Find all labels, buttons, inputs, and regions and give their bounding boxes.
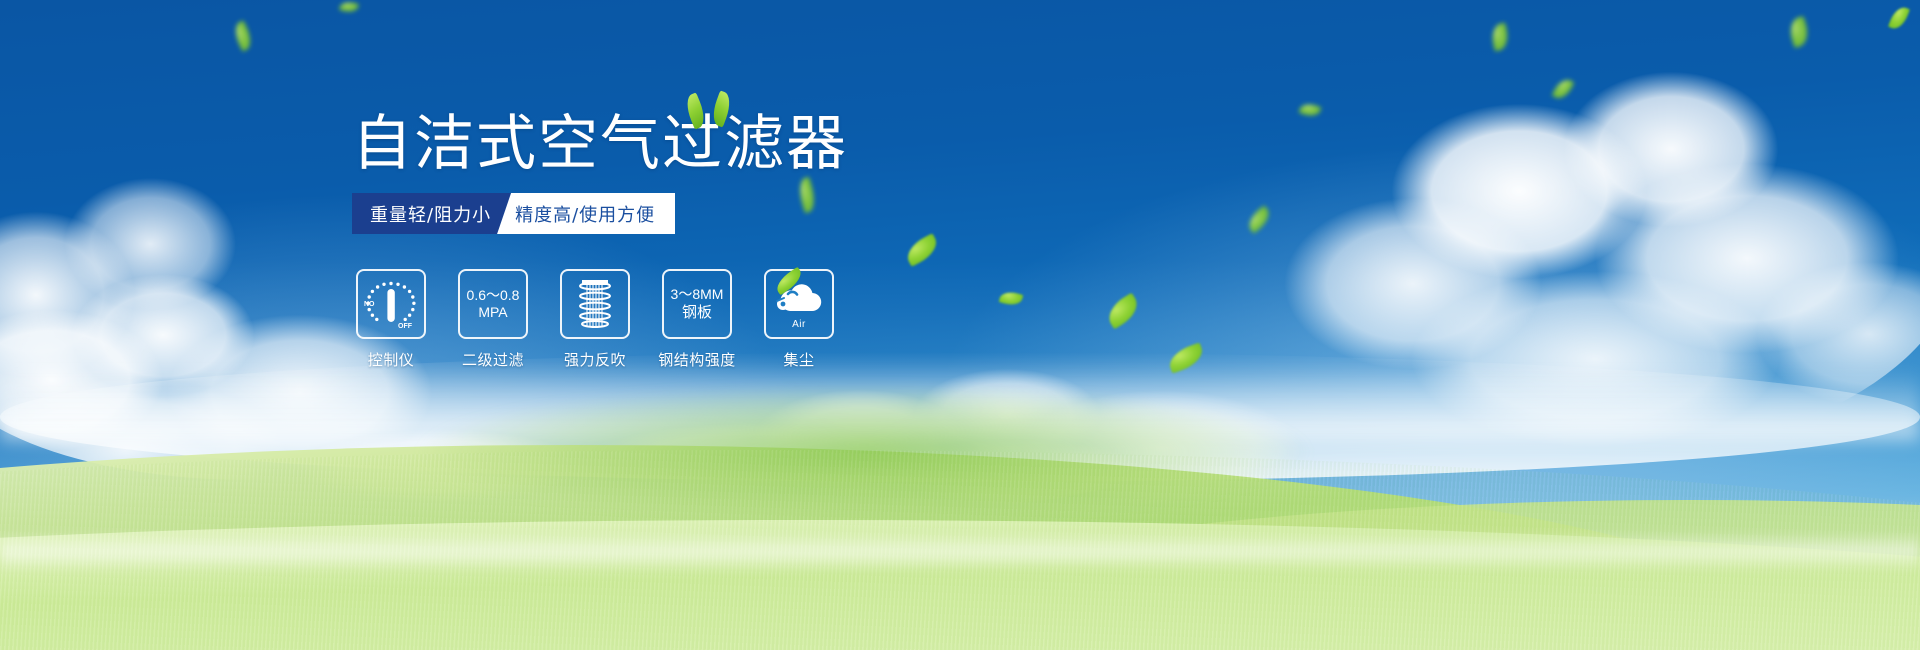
feature-icon-box: Air xyxy=(764,269,834,339)
feature-label: 钢结构强度 xyxy=(658,349,736,370)
badge-lightweight-low-resistance: 重量轻/阻力小 xyxy=(352,193,511,234)
filter-stack-icon xyxy=(571,278,619,330)
feature-label: 控制仪 xyxy=(368,349,415,370)
feature-item: Air 集尘 xyxy=(760,269,838,370)
feature-label: 集尘 xyxy=(783,349,814,370)
feature-label: 强力反吹 xyxy=(564,349,626,370)
product-hero-banner: 自洁式空气过滤器 重量轻/阻力小 精度高/使用方便 xyxy=(0,0,1920,650)
svg-text:OFF: OFF xyxy=(398,323,413,330)
pressure-range-text: 0.6～0.8 xyxy=(467,287,520,304)
feature-item: 3～8MM 钢板 钢结构强度 xyxy=(658,269,736,370)
feature-item: 强力反吹 xyxy=(556,269,634,370)
feature-icon-box: 0.6～0.8 MPA xyxy=(458,269,528,339)
steel-thickness-text: 3～8MM xyxy=(671,286,724,303)
tagline-badges: 重量轻/阻力小 精度高/使用方便 xyxy=(352,193,675,234)
gauge-icon: NO OFF xyxy=(362,276,420,332)
feature-icon-box: 3～8MM 钢板 xyxy=(662,269,732,339)
badge-high-precision-easy-use: 精度高/使用方便 xyxy=(497,193,675,234)
feature-list: NO OFF 控制仪 0.6～0.8 MPA 二级过滤 xyxy=(352,269,838,370)
air-label-text: Air xyxy=(792,319,806,330)
steel-plate-text: 钢板 xyxy=(682,303,712,322)
feature-label: 二级过滤 xyxy=(462,349,524,370)
feature-item: NO OFF 控制仪 xyxy=(352,269,430,370)
banner-content: 自洁式空气过滤器 重量轻/阻力小 精度高/使用方便 xyxy=(0,0,1920,650)
svg-text:NO: NO xyxy=(364,301,375,308)
feature-icon-box: NO OFF xyxy=(356,269,426,339)
feature-icon-box xyxy=(560,269,630,339)
pressure-unit-text: MPA xyxy=(478,304,507,321)
page-title: 自洁式空气过滤器 xyxy=(352,114,848,174)
feature-item: 0.6～0.8 MPA 二级过滤 xyxy=(454,269,532,370)
